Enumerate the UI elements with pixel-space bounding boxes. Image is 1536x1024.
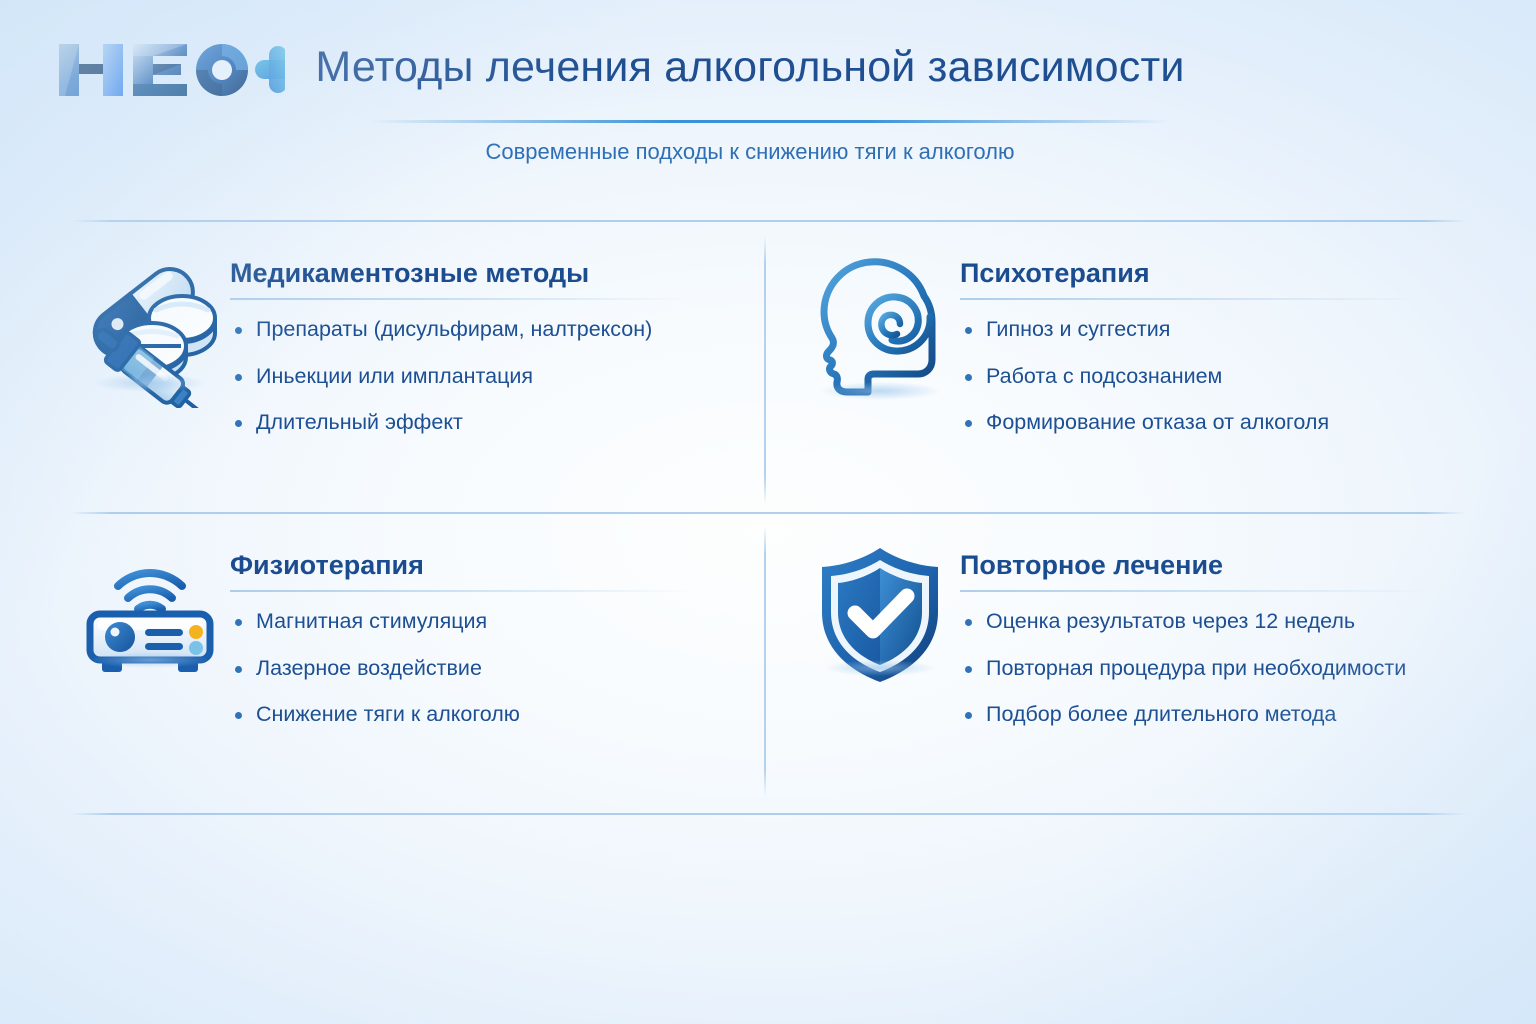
list-item: Формирование отказа от алкоголя	[960, 409, 1470, 437]
list-item: Магнитная стимуляция	[230, 608, 750, 636]
header: Методы лечения алкогольной зависимости С…	[0, 0, 1536, 200]
card-physiotherapy: Физиотерапия Магнитная стимуляция Лазерн…	[70, 540, 750, 729]
title-accent-rule	[370, 120, 1170, 123]
list-item: Снижение тяги к алкоголю	[230, 701, 750, 729]
list-item: Оценка результатов через 12 недель	[960, 608, 1470, 636]
card-body: Повторное лечение Оценка результатов чер…	[960, 540, 1470, 729]
card-title-underline	[960, 590, 1430, 592]
card-repeat-treatment: Повторное лечение Оценка результатов чер…	[800, 540, 1470, 729]
infographic-canvas: Методы лечения алкогольной зависимости С…	[0, 0, 1536, 1024]
card-body: Медикаментозные методы Препараты (дисуль…	[230, 248, 750, 437]
therapy-device-icon	[70, 540, 230, 680]
list-item: Повторная процедура при необходимости	[960, 655, 1470, 683]
grid-divider-middle	[70, 512, 1466, 514]
card-title: Физиотерапия	[230, 550, 750, 581]
pills-syringe-icon	[70, 248, 230, 408]
grid-divider-top	[70, 220, 1466, 222]
card-body: Физиотерапия Магнитная стимуляция Лазерн…	[230, 540, 750, 729]
list-item: Иньекции или имплантация	[230, 363, 750, 391]
card-bullet-list: Препараты (дисульфирам, налтрексон) Инье…	[230, 316, 750, 437]
card-bullet-list: Магнитная стимуляция Лазерное воздействи…	[230, 608, 750, 729]
list-item: Длительный эффект	[230, 409, 750, 437]
card-title: Повторное лечение	[960, 550, 1470, 581]
list-item: Лазерное воздействие	[230, 655, 750, 683]
card-title: Психотерапия	[960, 258, 1470, 289]
card-bullet-list: Гипноз и суггестия Работа с подсознанием…	[960, 316, 1470, 437]
page-subtitle: Современные подходы к снижению тяги к ал…	[300, 139, 1200, 165]
card-body: Психотерапия Гипноз и суггестия Работа с…	[960, 248, 1470, 437]
card-bullet-list: Оценка результатов через 12 недель Повто…	[960, 608, 1470, 729]
card-medication: Медикаментозные методы Препараты (дисуль…	[70, 248, 750, 437]
list-item: Гипноз и суггестия	[960, 316, 1470, 344]
list-item: Препараты (дисульфирам, налтрексон)	[230, 316, 750, 344]
shield-check-icon	[800, 540, 960, 680]
page-title: Методы лечения алкогольной зависимости	[300, 44, 1200, 90]
grid-divider-bottom	[70, 813, 1466, 815]
card-title-underline	[230, 298, 695, 300]
card-title-underline	[960, 298, 1425, 300]
list-item: Подбор более длительного метода	[960, 701, 1470, 729]
card-psychotherapy: Психотерапия Гипноз и суггестия Работа с…	[800, 248, 1470, 437]
grid-divider-vertical-lower	[764, 526, 766, 796]
list-item: Работа с подсознанием	[960, 363, 1470, 391]
card-title-underline	[230, 590, 695, 592]
card-title: Медикаментозные методы	[230, 258, 750, 289]
grid-divider-vertical-upper	[764, 236, 766, 504]
head-spiral-icon	[800, 248, 960, 408]
brand-logo[interactable]	[55, 38, 285, 100]
